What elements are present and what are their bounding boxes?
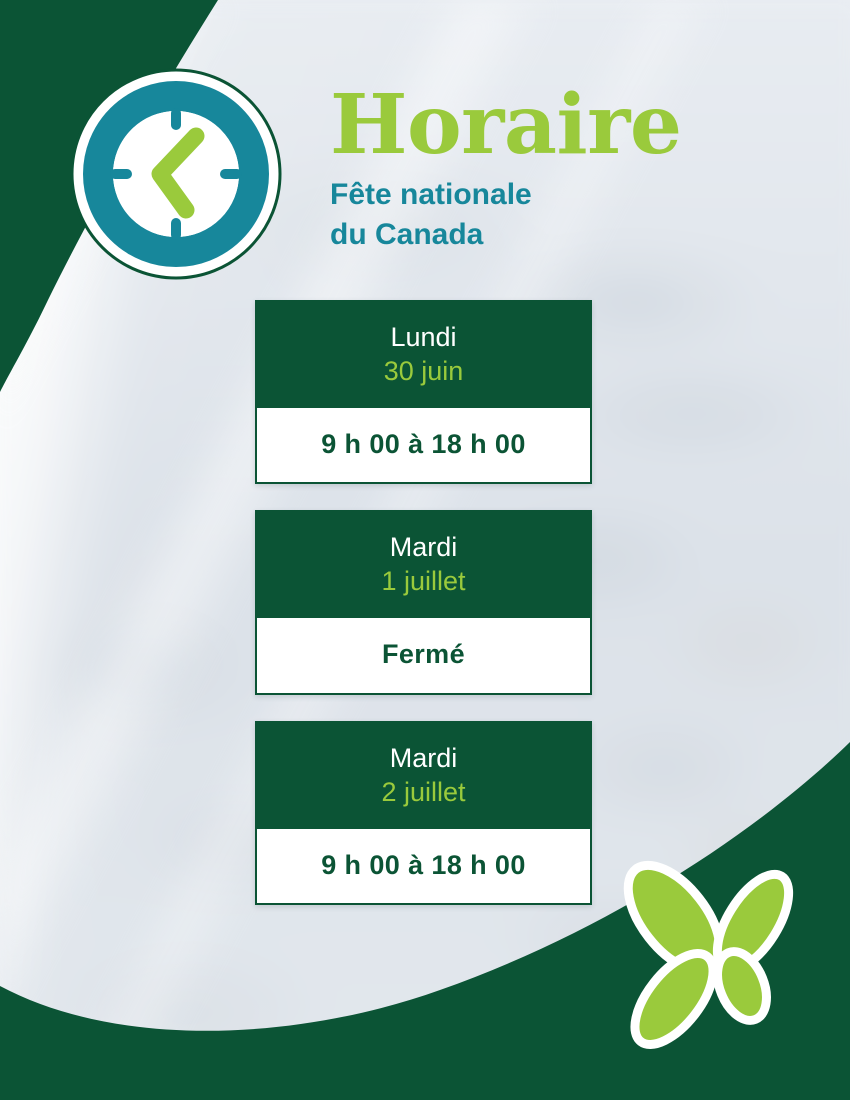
schedule-card-header: Lundi 30 juin [255, 300, 592, 408]
schedule-date: 30 juin [267, 356, 580, 388]
flower-logo-icon [612, 852, 822, 1062]
subtitle-line-1: Fête nationale [330, 175, 600, 215]
schedule-day: Mardi [267, 743, 580, 775]
schedule-day: Lundi [267, 322, 580, 354]
schedule-card: Lundi 30 juin 9 h 00 à 18 h 00 [255, 300, 592, 484]
schedule-hours: 9 h 00 à 18 h 00 [267, 851, 580, 881]
schedule-card-header: Mardi 1 juillet [255, 510, 592, 618]
schedule-card-body: Fermé [255, 618, 592, 695]
poster-header: Horaire Fête nationale du Canada [330, 86, 750, 255]
page-title: Horaire [330, 86, 750, 165]
schedule-card-body: 9 h 00 à 18 h 00 [255, 829, 592, 906]
schedule-date: 1 juillet [267, 566, 580, 598]
schedule-day: Mardi [267, 532, 580, 564]
schedule-hours: Fermé [267, 640, 580, 670]
schedule-date: 2 juillet [267, 777, 580, 809]
subtitle-line-2: du Canada [330, 215, 600, 255]
schedule-hours: 9 h 00 à 18 h 00 [267, 430, 580, 460]
clock-badge [68, 66, 284, 282]
schedule-card-body: 9 h 00 à 18 h 00 [255, 408, 592, 485]
page-subtitle: Fête nationale du Canada [330, 175, 600, 255]
schedule-card: Mardi 1 juillet Fermé [255, 510, 592, 694]
schedule-card-list: Lundi 30 juin 9 h 00 à 18 h 00 Mardi 1 j… [255, 300, 592, 905]
schedule-card-header: Mardi 2 juillet [255, 721, 592, 829]
schedule-card: Mardi 2 juillet 9 h 00 à 18 h 00 [255, 721, 592, 905]
schedule-poster: Horaire Fête nationale du Canada Lundi 3… [0, 0, 850, 1100]
brand-logo [612, 852, 822, 1062]
clock-icon [68, 66, 284, 282]
